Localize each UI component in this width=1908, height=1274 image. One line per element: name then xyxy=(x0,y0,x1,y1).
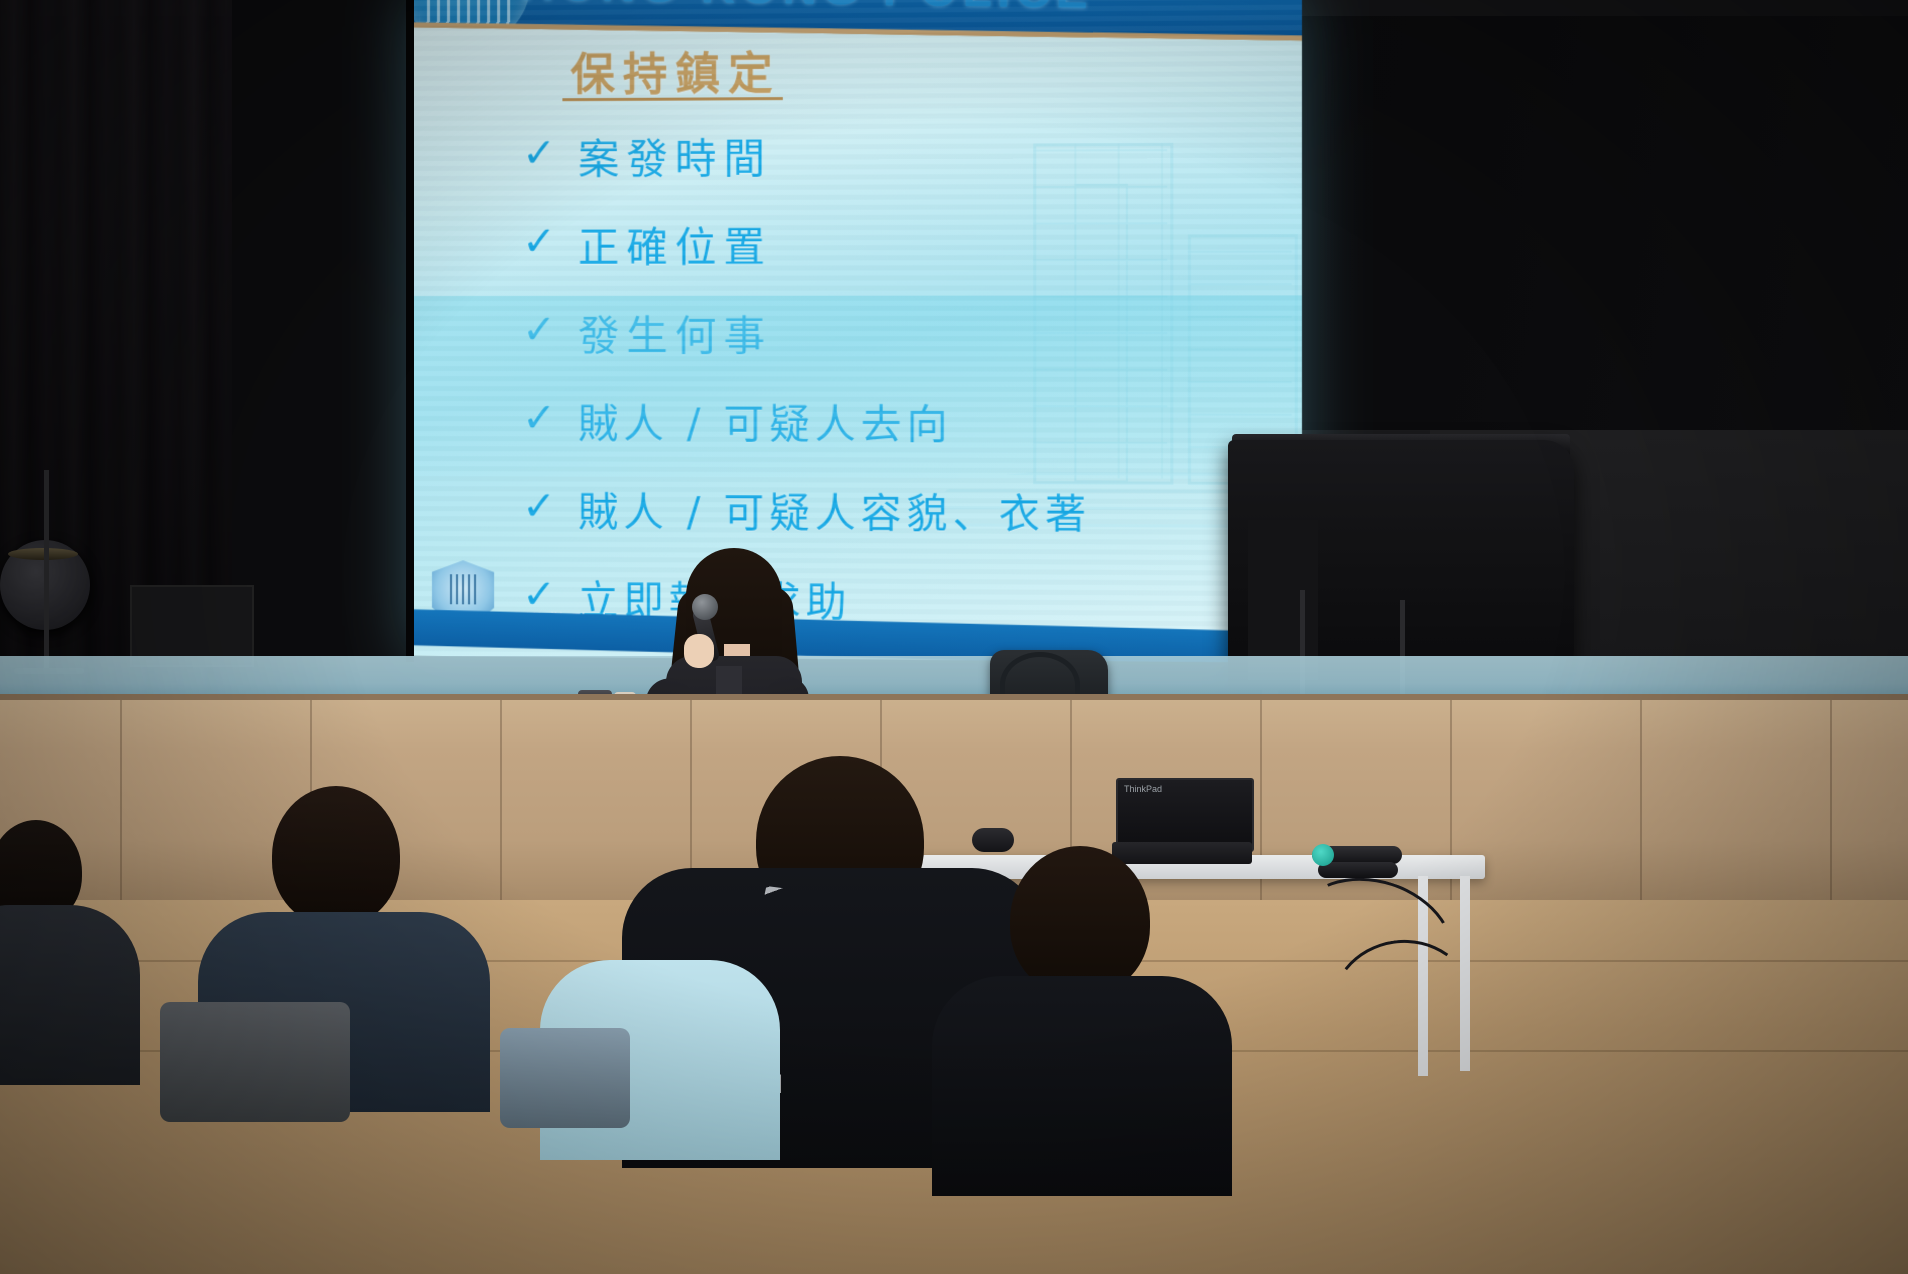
laptop-keyboard[interactable] xyxy=(1112,842,1252,864)
cymbal-icon xyxy=(8,548,78,560)
computer-mouse[interactable] xyxy=(972,828,1014,852)
presenter-hand-right xyxy=(684,634,714,668)
slide-title: 保持鎮定 xyxy=(570,38,780,104)
list-item: ✓ 正確位置 xyxy=(522,197,1299,287)
chair[interactable] xyxy=(500,1028,630,1128)
police-seal-icon xyxy=(410,0,532,38)
microphone-head-icon xyxy=(692,594,718,620)
microphone-windscreen-icon xyxy=(1312,844,1334,866)
handheld-microphone-2[interactable] xyxy=(1318,862,1398,878)
banner-text: HONG KONG POLICE xyxy=(520,0,1094,19)
screen-light-band xyxy=(410,295,1302,479)
projection-screen: HONG KONG POLICE 保持鎮定 ✓ 案發時間 ✓ 正確位置 ✓ 發生… xyxy=(410,0,1302,663)
check-icon: ✓ xyxy=(522,133,556,173)
list-item: ✓ 案發時間 xyxy=(522,108,1299,200)
amplifier xyxy=(130,585,254,667)
check-icon: ✓ xyxy=(522,486,556,526)
chair[interactable] xyxy=(160,1002,350,1122)
list-item-label: 正確位置 xyxy=(578,213,772,274)
list-item-label: 案發時間 xyxy=(578,124,772,185)
laptop-brand-label: ThinkPad xyxy=(1124,784,1162,794)
photo-scene: HONG KONG POLICE 保持鎮定 ✓ 案發時間 ✓ 正確位置 ✓ 發生… xyxy=(0,0,1908,1274)
mic-stand xyxy=(44,470,49,670)
laptop-screen[interactable]: ThinkPad xyxy=(1116,778,1254,852)
list-item-label: 賊人 / 可疑人容貌、衣著 xyxy=(578,480,1091,541)
check-icon: ✓ xyxy=(522,222,556,262)
